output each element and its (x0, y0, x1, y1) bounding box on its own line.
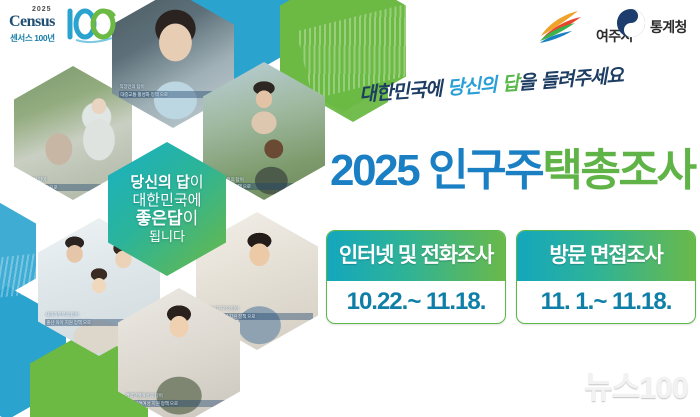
msg-line1-thin: 이 (190, 174, 204, 191)
taegeuk-icon (616, 8, 646, 38)
logo-statistics-korea-label: 통계청 (650, 17, 687, 37)
msg-line4: 됩니다 (149, 229, 185, 244)
census-logo-name: Census (9, 13, 55, 31)
census-logo-name-kr: 센서스 100년 (10, 32, 55, 44)
msg-line3-thin: 이 (183, 209, 199, 228)
decor-hex-blue-mid-left (0, 196, 36, 306)
photo-caption: 다문화가정의 답이 다문화 지원 정책 으로 (210, 176, 320, 190)
logo-statistics-korea: 통계청 (616, 8, 700, 48)
tagline-part1: 대한민국에 (359, 78, 448, 106)
msg-line2: 대한민국에 (132, 192, 201, 209)
tagline-part4: 을 들려주세요 (518, 65, 624, 95)
census-100-mark-icon (66, 7, 118, 45)
msg-line1-bold: 당신의 답 (130, 174, 189, 191)
survey-box-visit-period: 11. 1.~ 11.18. (517, 281, 695, 323)
census-logo-year: 2025 (32, 6, 52, 13)
watermark: 뉴스100 (584, 362, 688, 407)
tagline-part3: 답 (501, 72, 519, 95)
tagline: 대한민국에 당신의 답을 들려주세요 (358, 56, 691, 128)
census-promo-banner: 어르신의 답이 돌봄 지원 정책 으로 직장인의 답이 대중교통 활성화 정책 … (0, 0, 700, 417)
census-logo: 2025 Census 센서스 100년 (6, 5, 118, 49)
survey-box-visit[interactable]: 방문 면접조사 11. 1.~ 11.18. (516, 230, 696, 324)
title-part-green: 택총조사 (542, 146, 694, 195)
survey-box-visit-heading: 방문 면접조사 (517, 231, 695, 281)
msg-line3-bold: 좋은답 (136, 209, 183, 228)
survey-box-internet[interactable]: 인터넷 및 전화조사 10.22.~ 11.18. (326, 230, 506, 324)
yeoju-flame-icon (534, 8, 594, 48)
photo-caption: 경력단절여성의 답이 경력단절여성 지원 정책 으로 (125, 392, 235, 406)
survey-box-internet-period: 10.22.~ 11.18. (327, 281, 505, 323)
survey-box-internet-heading: 인터넷 및 전화조사 (327, 231, 505, 281)
title-part-blue: 2025 인구주 (330, 146, 542, 195)
tagline-part2: 당신의 (446, 74, 503, 100)
page-title: 2025 인구주택총조사 (330, 140, 696, 202)
